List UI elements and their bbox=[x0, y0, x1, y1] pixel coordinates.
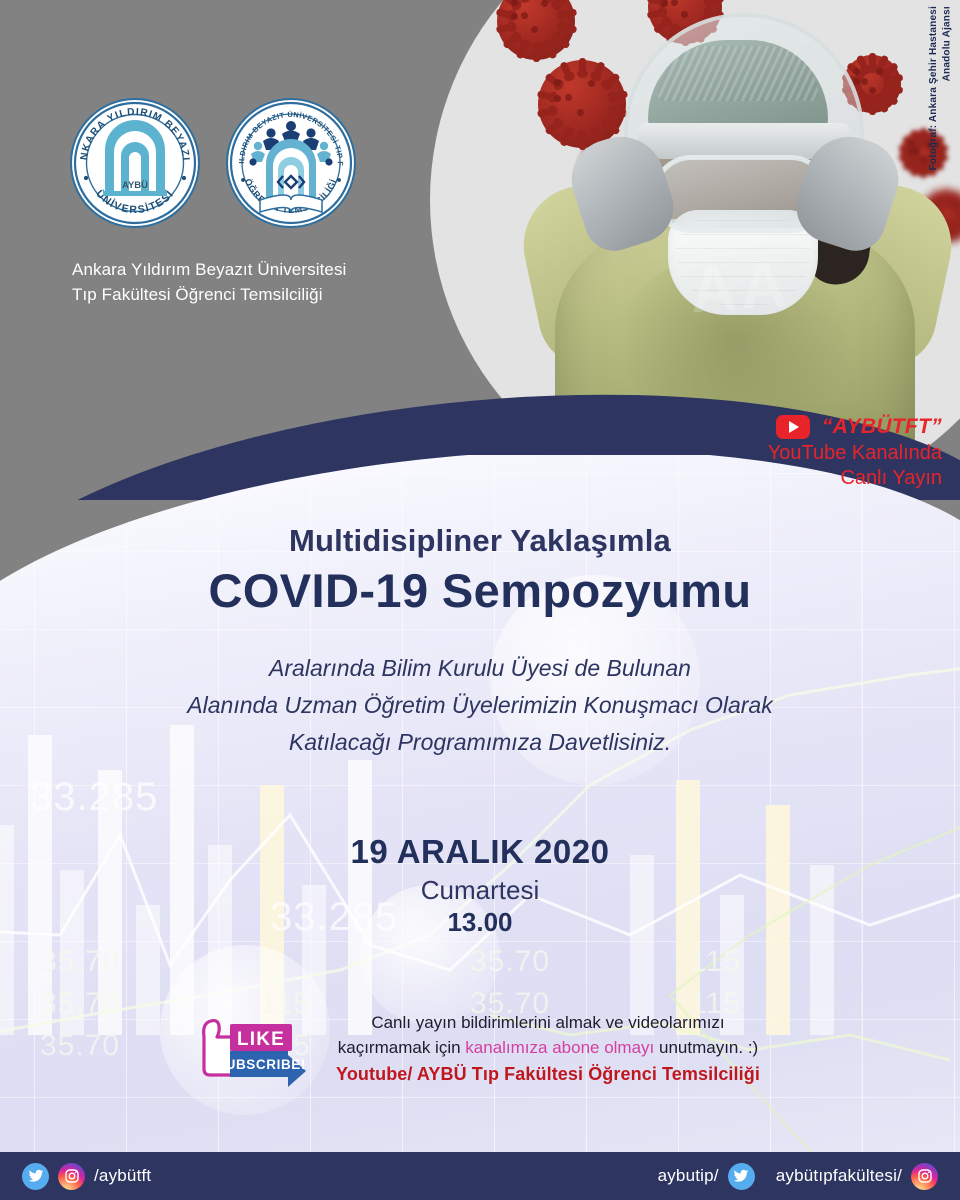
footer-instagram-handle[interactable]: aybütıpfakültesi/ bbox=[776, 1166, 902, 1186]
org-line-2: Tıp Fakültesi Öğrenci Temsilciliği bbox=[72, 285, 323, 304]
instagram-icon[interactable] bbox=[58, 1163, 85, 1190]
aybu-university-logo: ANKARA YILDIRIM BEYAZIT ÜNİVERSİTESİ AYB… bbox=[70, 98, 200, 228]
youtube-channel-row: “AYBÜTFT” bbox=[768, 415, 942, 439]
footer-left-handle[interactable]: /aybütft bbox=[94, 1166, 151, 1186]
subscribe-text: Canlı yayın bildirimlerini almak ve vide… bbox=[336, 1010, 760, 1085]
youtube-line-2: YouTube Kanalında bbox=[768, 442, 942, 465]
subscribe-line-1: Canlı yayın bildirimlerini almak ve vide… bbox=[336, 1010, 760, 1036]
agency-watermark: AA bbox=[688, 247, 793, 328]
footer-twitter-handle[interactable]: aybutip/ bbox=[658, 1166, 719, 1186]
footer-right-group[interactable]: aybutip/ aybütıpfakültesi/ bbox=[658, 1163, 938, 1190]
photo-credit-line2: Anadolu Ajansı bbox=[942, 6, 953, 81]
youtube-live-block[interactable]: “AYBÜTFT” YouTube Kanalında Canlı Yayın bbox=[768, 415, 942, 490]
poster-root: AA Fotoğraf: Ankara Şehir HastanesiAnado… bbox=[0, 0, 960, 1200]
svg-text:AYBÜ: AYBÜ bbox=[122, 180, 148, 191]
subscribe-channel-name: Youtube/ AYBÜ Tıp Fakültesi Öğrenci Tems… bbox=[336, 1064, 760, 1085]
subtitle-line-3: Katılacağı Programımıza Davetlisiniz. bbox=[289, 729, 671, 755]
badge-subscribe-label: SUBSCRIBE! bbox=[216, 1057, 306, 1072]
subscribe-highlight[interactable]: kanalımıza abone olmayı bbox=[465, 1038, 654, 1057]
virus-dot bbox=[950, 202, 957, 209]
event-title: COVID-19 Sempozyumu bbox=[0, 563, 960, 618]
organization-name: Ankara Yıldırım Beyazıt Üniversitesi Tıp… bbox=[72, 258, 346, 307]
poster-main-content: Multidisipliner Yaklaşımla COVID-19 Semp… bbox=[0, 455, 960, 1200]
medical-faculty-student-rep-logo: ANKARA YILDIRIM BEYAZIT ÜNİVERSİTESİ TIP… bbox=[226, 98, 356, 228]
org-line-1: Ankara Yıldırım Beyazıt Üniversitesi bbox=[72, 260, 346, 279]
twitter-icon[interactable] bbox=[728, 1163, 755, 1190]
event-weekday: Cumartesi bbox=[0, 875, 960, 906]
subscribe-line-2: kaçırmamak için kanalımıza abone olmayı … bbox=[336, 1035, 760, 1061]
subscribe-line-2-a: kaçırmamak için bbox=[338, 1038, 466, 1057]
event-time: 13.00 bbox=[0, 907, 960, 938]
logo-group: ANKARA YILDIRIM BEYAZIT ÜNİVERSİTESİ AYB… bbox=[70, 98, 356, 228]
photo-credit: Fotoğraf: Ankara Şehir HastanesiAnadolu … bbox=[927, 6, 954, 170]
youtube-channel-name: “AYBÜTFT” bbox=[822, 415, 942, 439]
like-subscribe-art: LIKE SUBSCRIBE! bbox=[200, 1007, 318, 1087]
instagram-icon[interactable] bbox=[911, 1163, 938, 1190]
like-subscribe-badge[interactable]: LIKE SUBSCRIBE! bbox=[200, 1007, 318, 1087]
twitter-icon[interactable] bbox=[22, 1163, 49, 1190]
subtitle-line-2: Alanında Uzman Öğretim Üyelerimizin Konu… bbox=[187, 692, 772, 718]
subtitle-line-1: Aralarında Bilim Kurulu Üyesi de Bulunan bbox=[269, 655, 691, 681]
faculty-logo-art: ANKARA YILDIRIM BEYAZIT ÜNİVERSİTESİ TIP… bbox=[226, 98, 356, 228]
youtube-line-3: Canlı Yayın bbox=[768, 467, 942, 490]
aybu-logo-art: ANKARA YILDIRIM BEYAZIT ÜNİVERSİTESİ AYB… bbox=[70, 98, 200, 228]
event-subtitle: Aralarında Bilim Kurulu Üyesi de Bulunan… bbox=[0, 650, 960, 760]
subscribe-block: LIKE SUBSCRIBE! Canlı yayın bildirimleri… bbox=[0, 1007, 960, 1087]
event-date: 19 ARALIK 2020 bbox=[0, 833, 960, 871]
footer-left-group[interactable]: /aybütft bbox=[22, 1163, 151, 1190]
badge-like-label: LIKE bbox=[237, 1029, 285, 1050]
event-kicker: Multidisipliner Yaklaşımla bbox=[0, 523, 960, 559]
subscribe-line-2-b: unutmayın. :) bbox=[654, 1038, 758, 1057]
photo-credit-line1: Fotoğraf: Ankara Şehir Hastanesi bbox=[928, 6, 939, 170]
youtube-play-icon[interactable] bbox=[776, 415, 810, 439]
social-footer: /aybütft aybutip/ aybütıpfakültesi/ bbox=[0, 1152, 960, 1200]
